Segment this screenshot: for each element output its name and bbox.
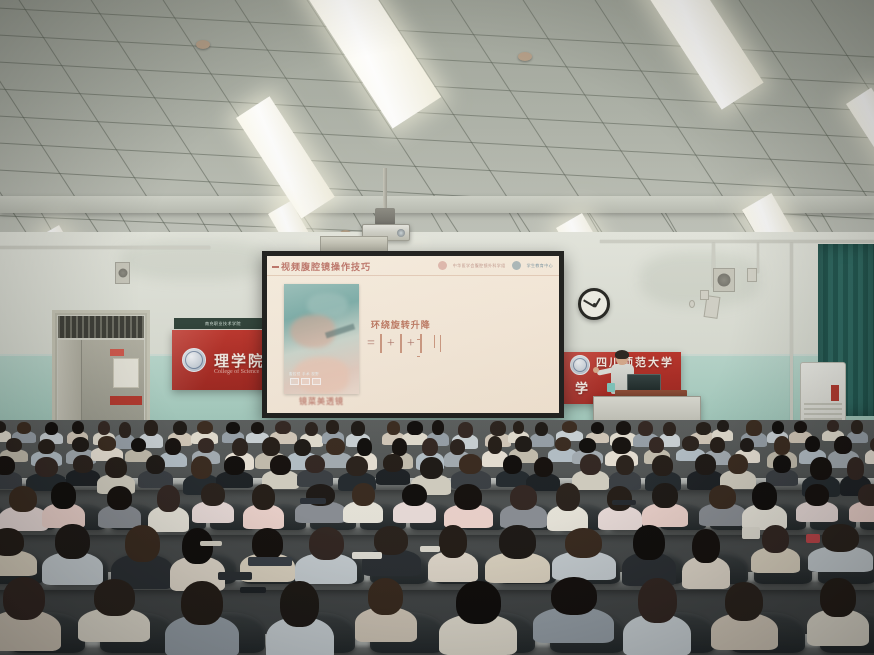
audience-member-head [695, 454, 716, 474]
audience-member-head [392, 438, 408, 456]
audience-member-head [98, 421, 110, 435]
banner-header-text: 南充职业技术学院 [174, 321, 272, 327]
audience-member-head [510, 485, 537, 510]
audience-member-head [805, 484, 829, 506]
audience-member-head [131, 438, 147, 452]
projector-lens-icon [397, 229, 405, 237]
audience-member-head [294, 439, 312, 457]
audience-member-head [772, 421, 784, 434]
org-logo-left-icon [438, 261, 447, 270]
lecture-hall-photo: 南充职业技术学院 理学院 College of Science 四川师范大学 学… [0, 0, 874, 655]
audience-member-head [224, 456, 245, 474]
audience-member-head [820, 578, 855, 617]
audience-member-head [73, 455, 93, 473]
desk-phone[interactable] [300, 498, 326, 504]
audience-member-head [725, 582, 763, 621]
audience-member-head [0, 528, 24, 556]
audience-member-head [17, 422, 31, 434]
audience-member-head [439, 525, 467, 558]
ceiling-tile-grid [0, 0, 874, 252]
photo-caption: 镜菜美透镜 [284, 396, 359, 407]
audience-member-head [773, 455, 791, 473]
banner-header-strip: 南充职业技术学院 [174, 318, 272, 329]
desk-paper-sheet[interactable] [352, 552, 382, 559]
presentation-slide: 视频腹腔镜操作技巧 中华医学会腹腔镜外科学组 学生教育中心 腹腔镜 手术 视野 … [267, 256, 559, 413]
audience-member-head [488, 436, 503, 453]
audience-member-head [146, 455, 165, 474]
desk-eyeglasses[interactable] [218, 572, 252, 580]
projector-bracket [375, 208, 395, 225]
smoke-detector-icon [196, 40, 210, 49]
university-seal-icon [570, 355, 590, 375]
audience-member-head [387, 421, 400, 435]
audience-member-head [638, 421, 653, 436]
wall-fixture [700, 290, 709, 300]
audience-member-head [72, 421, 84, 435]
equation-term-1-label: 环绕 [371, 318, 391, 331]
audience-member-head [105, 457, 127, 478]
banner-left-title: 理学院 [214, 350, 265, 371]
desk-paper-sheet[interactable] [420, 546, 440, 552]
audience-member-head [305, 455, 326, 473]
audience-member-head [357, 438, 371, 457]
audience-member-head [55, 524, 89, 559]
audience-member-head [503, 455, 522, 474]
desk-phone[interactable] [612, 500, 636, 505]
audience-member-head [652, 483, 678, 508]
audience-member-head [652, 455, 673, 476]
audience-member-head [51, 482, 75, 509]
audience-member-head [94, 579, 135, 615]
equation-term-1: 环绕 [380, 335, 382, 353]
audience-member-head [383, 454, 403, 472]
wall-speaker [713, 268, 735, 292]
audience-member-head [252, 484, 276, 510]
equation-term-1-shape [380, 334, 382, 353]
org-logo-right-icon [512, 261, 521, 270]
audience-member-head [352, 483, 375, 506]
endoscopy-photo-label: 腹腔镜 手术 视野 [289, 372, 319, 377]
banner-left: 理学院 College of Science [172, 330, 274, 390]
banner-right-subtitle: 学 [575, 378, 590, 397]
audience-member-head [746, 420, 761, 435]
audience-member-head [9, 486, 37, 512]
audience-member-head [513, 421, 525, 434]
audience-member-head [165, 438, 181, 455]
transom-window [58, 316, 144, 338]
audience-member-head [870, 437, 874, 453]
slide-divider [267, 275, 559, 276]
audience-member-head [38, 439, 56, 455]
audience-member-head [3, 577, 45, 620]
audience-member-head [710, 437, 725, 453]
audience-member-head [847, 457, 864, 479]
audience-member-head [459, 454, 482, 474]
audience-member-head [198, 438, 214, 453]
audience-member-head [515, 436, 532, 452]
audience-member-head [858, 484, 874, 506]
audience-seating-area [0, 420, 874, 655]
audience-member-head [616, 421, 631, 435]
equation-term-3-shape [420, 334, 422, 353]
audience-member-head [270, 455, 291, 474]
audience-member-head [326, 438, 345, 455]
audience-member-head [616, 455, 634, 475]
audience-member-head [752, 482, 777, 510]
college-seal-icon [182, 348, 206, 372]
audience-member-head [45, 422, 58, 435]
endoscopy-photo: 腹腔镜 手术 视野 [284, 284, 359, 394]
wall-fixture [689, 300, 695, 308]
audience-member-head [851, 420, 863, 433]
audience-member-head [6, 438, 22, 452]
org-logo-left-text: 中华医学会腹腔镜外科学组 [453, 263, 506, 269]
audience-member-head [810, 457, 831, 480]
audience-member-head [551, 577, 597, 615]
audience-member-head [305, 422, 318, 437]
audience-member-head [562, 421, 578, 433]
equals-sign: = [367, 336, 375, 352]
audience-member-head [125, 525, 160, 562]
audience-member-head [72, 437, 89, 452]
audience-member-head [456, 581, 501, 623]
desk-phone[interactable] [240, 587, 266, 593]
audience-member-head [663, 422, 675, 437]
wall-fixture [747, 268, 757, 282]
wall-conduit [0, 246, 210, 249]
audience-member-head [422, 438, 438, 456]
desk-notebook[interactable] [248, 557, 292, 566]
audience-member-head [450, 439, 466, 455]
audience-member-head [326, 420, 339, 434]
audience-member-head [173, 421, 187, 436]
smoke-detector-icon [518, 52, 532, 61]
audience-member-head [252, 528, 284, 559]
audience-member-head [774, 436, 791, 454]
wall-speaker [115, 262, 130, 284]
audience-member-head [692, 529, 720, 564]
equation-term-2-shape [400, 334, 402, 353]
slide-title: 视频腹腔镜操作技巧 [281, 260, 371, 273]
presenter-hair [615, 350, 629, 359]
audience-member-head [717, 420, 729, 432]
audience-member-head [762, 525, 790, 553]
desk-tissue[interactable] [200, 541, 222, 546]
audience-member-head [638, 578, 677, 623]
audience-member-head [119, 422, 131, 438]
audience-member-head [490, 421, 505, 436]
audience-member-head [607, 486, 632, 511]
audience-member-head [374, 526, 408, 554]
audience-member-head [346, 456, 368, 477]
audience-member-head [191, 456, 212, 478]
presenter-hand [593, 367, 599, 373]
audience-member-head [402, 484, 426, 507]
wall-clock [578, 288, 610, 320]
audience-member-head [556, 483, 580, 511]
wall-conduit [757, 243, 759, 273]
audience-member-head [309, 527, 344, 560]
wall-conduit [790, 243, 793, 433]
audience-member-head [682, 436, 699, 450]
audience-member-head [633, 525, 664, 561]
audience-member-head [535, 422, 548, 437]
endoscopy-photo-badges [290, 378, 321, 385]
audience-member-head [351, 421, 364, 436]
audience-member-head [432, 420, 445, 435]
audience-member-head [794, 421, 807, 434]
equation-term-3-label: 升降 [411, 318, 431, 331]
equation-term-3: 升降 [420, 335, 422, 353]
audience-member-head [226, 422, 239, 434]
slide-logo-row: 中华医学会腹腔镜外科学组 学生教育中心 [438, 261, 553, 270]
plus-sign-2: + [407, 336, 415, 352]
audience-member-head [827, 420, 839, 432]
equation-term-2: 旋转 [400, 335, 402, 353]
audience-member-head [201, 483, 225, 506]
projection-screen: 视频腹腔镜操作技巧 中华医学会腹腔镜外科学组 学生教育中心 腹腔镜 手术 视野 … [262, 251, 564, 418]
audience-member-head [805, 436, 820, 452]
audience-member-head [144, 420, 158, 436]
audience-member-head [580, 454, 601, 475]
audience-member-head [368, 578, 403, 615]
audience-member-head [458, 422, 473, 437]
audience-member-head [0, 456, 15, 475]
audience-member-head [232, 438, 248, 457]
audience-member-head [181, 581, 223, 625]
title-dash-icon [272, 266, 279, 268]
desk-notebook[interactable] [742, 527, 760, 539]
audience-member-head [407, 421, 422, 435]
audience-member-head [107, 486, 132, 510]
audience-member-head [157, 485, 180, 512]
podium-monitor[interactable] [627, 374, 661, 391]
org-logo-right-text: 学生教育中心 [527, 263, 553, 269]
audience-member-head [612, 437, 631, 454]
audience-member-head [98, 436, 116, 450]
audience-member-head [280, 581, 319, 627]
plus-sign-1: + [387, 336, 395, 352]
audience-member-head [454, 484, 482, 509]
audience-member-head [579, 438, 596, 453]
podium-cup [607, 383, 615, 392]
audience-member-head [555, 437, 572, 451]
wall-conduit [600, 240, 874, 243]
audience-member-head [822, 524, 859, 552]
audience-member-head [35, 457, 58, 477]
equation-term-2-label: 旋转 [391, 318, 411, 331]
audience-member-head [420, 457, 443, 479]
audience-member-head [534, 457, 553, 476]
audience-member-head [262, 437, 281, 455]
audience-member-head [728, 454, 748, 474]
technique-equation: = 环绕 + 旋转 + [367, 318, 557, 370]
screen-valance [320, 236, 388, 252]
audience-member-head [565, 528, 602, 558]
audience-member-head [275, 421, 290, 435]
audience-member-head [709, 485, 736, 508]
projector-mount-pole [383, 168, 387, 212]
audience-member-head [251, 422, 264, 434]
audience-member-head [197, 421, 213, 435]
audience-member-head [834, 436, 852, 454]
audience-member-head [649, 437, 664, 453]
banner-left-subtitle: College of Science [214, 369, 259, 375]
audience-member-head [696, 422, 711, 435]
audience-member-head [499, 525, 536, 559]
desk-water-bottle[interactable] [806, 534, 820, 543]
ceiling [0, 0, 874, 252]
